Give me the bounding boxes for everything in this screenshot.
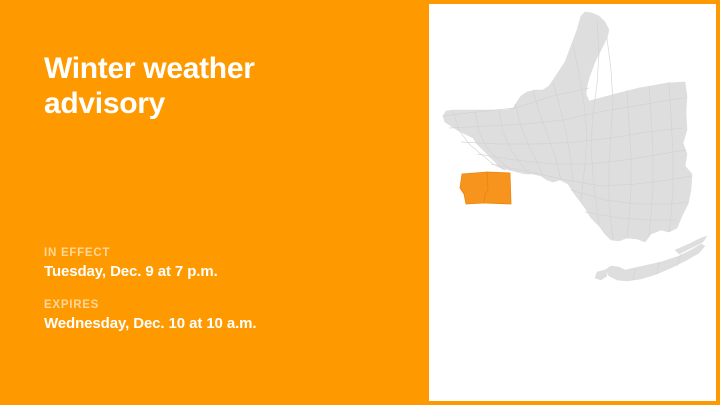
highlighted-county-west [460,172,488,204]
long-island [605,244,705,281]
in-effect-block: IN EFFECT Tuesday, Dec. 9 at 7 p.m. [44,246,394,282]
expires-label: EXPIRES [44,298,394,314]
map-counties-layer [443,12,692,242]
alert-times: IN EFFECT Tuesday, Dec. 9 at 7 p.m. EXPI… [44,246,394,350]
map-panel [429,4,716,401]
expires-value: Wednesday, Dec. 10 at 10 a.m. [44,314,394,335]
highlighted-advisory-counties [460,172,511,204]
expires-block: EXPIRES Wednesday, Dec. 10 at 10 a.m. [44,298,394,334]
highlighted-county-east [484,172,511,204]
long-island-region [595,236,707,281]
new-york-state-outline [443,12,692,242]
new-york-state-map [429,4,716,401]
staten-island [595,270,607,280]
alert-text-column: Winter weather advisory IN EFFECT Tuesda… [0,0,429,405]
in-effect-label: IN EFFECT [44,246,394,262]
in-effect-value: Tuesday, Dec. 9 at 7 p.m. [44,262,394,283]
page-title: Winter weather advisory [44,51,374,121]
weather-alert-card: Winter weather advisory IN EFFECT Tuesda… [0,0,720,405]
